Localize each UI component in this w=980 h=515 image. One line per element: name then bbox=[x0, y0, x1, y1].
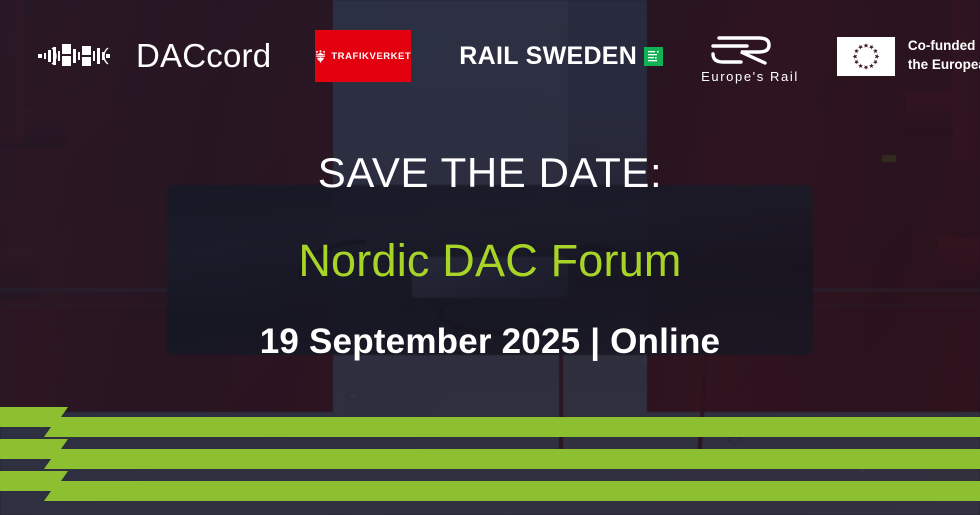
europes-rail-er-monogram-icon bbox=[707, 29, 793, 67]
stripe-long bbox=[44, 481, 980, 501]
event-title: Nordic DAC Forum bbox=[0, 236, 980, 286]
eu-funding-text: Co-funded by the European Union bbox=[908, 37, 980, 74]
save-the-date-poster: DACcord TRAFIKVERKET RAIL SWEDEN bbox=[0, 0, 980, 515]
logo-europes-rail: Europe's Rail bbox=[701, 29, 799, 84]
logo-european-union: Co-funded by the European Union bbox=[837, 37, 980, 76]
stripe-long bbox=[44, 417, 980, 437]
trafikverket-crown-icon bbox=[315, 47, 326, 66]
trafikverket-wordmark: TRAFIKVERKET bbox=[331, 51, 411, 62]
eu-funding-line1: Co-funded by bbox=[908, 38, 980, 53]
green-angled-stripes bbox=[0, 395, 980, 515]
rail-sweden-wordmark: RAIL SWEDEN bbox=[459, 42, 637, 71]
logo-rail-sweden: RAIL SWEDEN bbox=[459, 42, 663, 71]
logo-trafikverket: TRAFIKVERKET bbox=[315, 30, 411, 82]
partner-logo-bar: DACcord TRAFIKVERKET RAIL SWEDEN bbox=[0, 0, 980, 112]
daccord-wordmark: DACcord bbox=[136, 37, 271, 75]
stripe-long bbox=[44, 449, 980, 469]
eu-stars-circle bbox=[837, 37, 895, 76]
europes-rail-wordmark: Europe's Rail bbox=[701, 69, 799, 84]
message-block: SAVE THE DATE: Nordic DAC Forum 19 Septe… bbox=[0, 150, 980, 361]
logo-daccord: DACcord bbox=[38, 37, 271, 75]
event-date-and-format: 19 September 2025 | Online bbox=[0, 323, 980, 362]
eu-funding-line2: the European Union bbox=[908, 57, 980, 72]
daccord-waveform-mark bbox=[38, 42, 122, 70]
eu-flag-icon bbox=[837, 37, 895, 76]
rail-sweden-square-glyph bbox=[644, 47, 663, 66]
rail-sweden-square-icon bbox=[644, 47, 663, 66]
save-the-date-kicker: SAVE THE DATE: bbox=[0, 150, 980, 196]
